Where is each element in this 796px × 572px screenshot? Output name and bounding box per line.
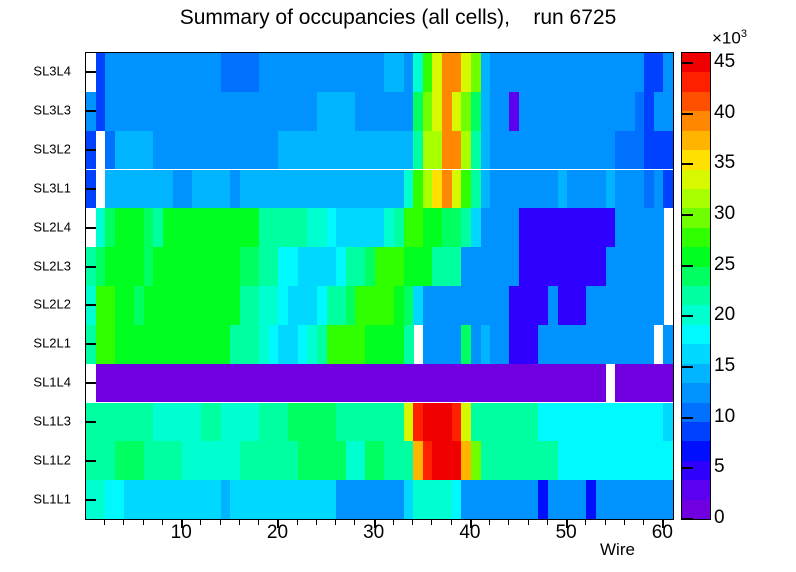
y-axis-label-sl1l1: SL1L1	[33, 491, 71, 506]
heatmap-cell	[404, 325, 414, 364]
heatmap-cell	[163, 208, 260, 247]
heatmap-cell	[548, 480, 587, 519]
heatmap-cell	[105, 92, 317, 131]
heatmap-cell	[96, 247, 106, 286]
heatmap-cell	[567, 170, 606, 209]
heatmap-cell	[490, 325, 510, 364]
heatmap-cell	[481, 131, 491, 170]
x-axis-tick	[451, 519, 452, 525]
y-axis-tick	[85, 227, 96, 229]
color-scale-tick	[681, 163, 693, 165]
heatmap-cell	[442, 208, 462, 247]
heatmap-cell	[221, 480, 231, 519]
color-scale-label-0: 0	[714, 507, 725, 529]
heatmap-cell	[105, 131, 115, 170]
heatmap-cell	[375, 247, 404, 286]
x-axis-tick	[143, 519, 144, 525]
heatmap-cell	[355, 286, 394, 325]
heatmap-cell	[307, 208, 327, 247]
heatmap-cell	[606, 170, 616, 209]
x-axis-tick	[258, 519, 259, 525]
heatmap-cell	[471, 208, 481, 247]
x-axis-label-40: 40	[459, 522, 480, 544]
heatmap-cell	[471, 170, 481, 209]
color-scale-label-40: 40	[714, 102, 735, 124]
heatmap-cell	[481, 92, 491, 131]
heatmap-cell	[278, 247, 298, 286]
x-axis-tick	[104, 519, 105, 525]
x-axis-tick	[605, 519, 606, 525]
heatmap-cell	[413, 480, 452, 519]
x-axis-tick	[431, 519, 432, 525]
heatmap-cell	[519, 247, 606, 286]
heatmap-plot-area[interactable]	[85, 52, 674, 520]
heatmap-row-sl2l4	[86, 208, 673, 247]
heatmap-cell	[644, 170, 654, 209]
color-scale-tick	[681, 315, 693, 317]
heatmap-cell	[240, 286, 260, 325]
x-axis-title: Wire	[600, 540, 635, 560]
x-axis-tick	[547, 519, 548, 525]
y-axis-label-sl3l3: SL3L3	[33, 103, 71, 118]
heatmap-cell	[413, 403, 423, 442]
color-scale-tick	[681, 518, 693, 520]
heatmap-cell	[481, 208, 520, 247]
heatmap-cell	[596, 480, 673, 519]
heatmap-cell	[423, 325, 462, 364]
heatmap-cell	[663, 170, 673, 209]
heatmap-cell	[134, 286, 144, 325]
heatmap-cell	[144, 208, 154, 247]
heatmap-cell	[558, 441, 674, 480]
x-axis-tick	[528, 519, 529, 525]
heatmap-cell	[644, 92, 654, 131]
heatmap-cell	[115, 286, 135, 325]
heatmap-cell	[509, 325, 538, 364]
heatmap-row-sl1l4	[86, 364, 673, 403]
heatmap-cell	[663, 403, 673, 442]
heatmap-cell	[461, 92, 471, 131]
color-scale-ticks: 051015202530354045	[681, 52, 791, 518]
y-axis-tick	[85, 499, 96, 501]
x-axis-tick	[200, 519, 201, 525]
heatmap-cell	[230, 325, 259, 364]
heatmap-row-sl1l3	[86, 403, 673, 442]
heatmap-row-sl3l2	[86, 131, 673, 170]
x-axis: 102030405060	[0, 519, 796, 549]
heatmap-cell	[471, 325, 481, 364]
heatmap-cell	[346, 247, 366, 286]
color-scale-tick	[681, 366, 693, 368]
heatmap-row-sl3l1	[86, 170, 673, 209]
heatmap-cell	[221, 403, 260, 442]
heatmap-cell	[461, 325, 471, 364]
heatmap-cell	[481, 53, 491, 92]
color-scale-label-20: 20	[714, 304, 735, 326]
heatmap-cell	[115, 208, 144, 247]
heatmap-cell	[105, 208, 115, 247]
y-axis-tick	[85, 304, 96, 306]
heatmap-cell	[423, 441, 433, 480]
heatmap-cell	[413, 441, 423, 480]
heatmap-cell	[423, 208, 443, 247]
heatmap-cell	[144, 286, 241, 325]
y-axis-label-sl2l2: SL2L2	[33, 297, 71, 312]
x-axis-label-60: 60	[652, 522, 673, 544]
heatmap-cell	[365, 247, 375, 286]
heatmap-cell	[96, 208, 106, 247]
heatmap-cell	[384, 53, 404, 92]
heatmap-cell	[423, 170, 433, 209]
heatmap-cell	[615, 364, 673, 403]
heatmap-cell	[278, 325, 298, 364]
exponent-power: 3	[741, 28, 747, 40]
heatmap-cell	[230, 480, 336, 519]
heatmap-cell	[471, 92, 481, 131]
x-axis-label-50: 50	[556, 522, 577, 544]
root-canvas: Summary of occupancies (all cells), run …	[0, 0, 796, 572]
heatmap-cell	[442, 92, 452, 131]
heatmap-cell	[654, 92, 674, 131]
color-scale-exponent: ×103	[712, 28, 747, 49]
x-axis-tick	[316, 519, 317, 525]
color-scale-label-30: 30	[714, 203, 735, 225]
heatmap-cell	[471, 441, 481, 480]
color-scale-label-10: 10	[714, 406, 735, 428]
x-axis-tick	[624, 519, 625, 525]
heatmap-row-sl3l3	[86, 92, 673, 131]
heatmap-cell	[509, 92, 519, 131]
heatmap-row-sl1l1	[86, 480, 673, 519]
heatmap-cell	[432, 247, 461, 286]
heatmap-cell	[615, 131, 644, 170]
x-axis-tick	[393, 519, 394, 525]
heatmap-cell	[240, 441, 298, 480]
heatmap-cell	[336, 480, 404, 519]
heatmap-cell	[461, 131, 471, 170]
heatmap-cell	[346, 441, 366, 480]
heatmap-cell	[153, 131, 278, 170]
heatmap-cell	[490, 170, 558, 209]
heatmap-row-sl3l4	[86, 53, 673, 92]
heatmap-row-sl2l2	[86, 286, 673, 325]
color-scale-tick	[681, 417, 693, 419]
heatmap-cell	[259, 286, 279, 325]
heatmap-cell	[471, 403, 539, 442]
heatmap-cell	[336, 403, 404, 442]
heatmap-cell	[644, 53, 664, 92]
heatmap-cell	[452, 403, 462, 442]
heatmap-cell	[615, 170, 644, 209]
y-axis-tick	[85, 343, 96, 345]
x-axis-tick	[123, 519, 124, 525]
heatmap-cell	[442, 131, 462, 170]
heatmap-cell	[442, 170, 452, 209]
heatmap-cell	[413, 131, 423, 170]
heatmap-row-sl2l1	[86, 325, 673, 364]
y-axis-label-sl1l3: SL1L3	[33, 413, 71, 428]
heatmap-cell	[404, 208, 424, 247]
x-axis-tick	[335, 519, 336, 525]
x-axis-tick	[162, 519, 163, 525]
heatmap-cell	[230, 170, 240, 209]
heatmap-row-sl2l3	[86, 247, 673, 286]
heatmap-cell	[278, 286, 288, 325]
heatmap-cell	[423, 403, 452, 442]
y-axis-tick	[85, 188, 96, 190]
heatmap-cell	[96, 364, 606, 403]
heatmap-cell	[298, 325, 308, 364]
heatmap-cell	[96, 286, 116, 325]
heatmap-cell	[192, 170, 231, 209]
heatmap-cell	[336, 247, 346, 286]
heatmap-cell	[394, 208, 404, 247]
y-axis-label-sl3l2: SL3L2	[33, 142, 71, 157]
heatmap-cell	[115, 325, 231, 364]
heatmap-cell	[423, 92, 433, 131]
color-scale-label-15: 15	[714, 355, 735, 377]
heatmap-cell	[307, 325, 317, 364]
heatmap-cell	[298, 247, 337, 286]
y-axis-tick	[85, 149, 96, 151]
heatmap-cell	[346, 286, 356, 325]
heatmap-cell	[115, 441, 144, 480]
heatmap-cell	[317, 325, 327, 364]
heatmap-cell	[105, 480, 125, 519]
color-scale-tick	[681, 62, 693, 64]
heatmap-cell	[365, 441, 385, 480]
x-axis-tick	[585, 519, 586, 525]
heatmap-cell	[548, 286, 558, 325]
exponent-base: ×10	[712, 29, 741, 48]
y-axis-tick	[85, 71, 96, 73]
heatmap-cell	[490, 131, 615, 170]
x-axis-tick	[643, 519, 644, 525]
x-axis-label-20: 20	[267, 522, 288, 544]
heatmap-cell	[413, 92, 423, 131]
x-axis-tick	[220, 519, 221, 525]
heatmap-cell	[288, 403, 337, 442]
heatmap-cell	[317, 286, 327, 325]
heatmap-cell	[423, 53, 433, 92]
color-scale-label-35: 35	[714, 152, 735, 174]
y-axis-tick	[85, 382, 96, 384]
heatmap-cell	[240, 170, 404, 209]
y-axis-label-sl3l1: SL3L1	[33, 180, 71, 195]
y-axis-label-sl2l4: SL2L4	[33, 219, 71, 234]
heatmap-cell	[461, 403, 471, 442]
heatmap-cell	[586, 480, 596, 519]
heatmap-cell	[413, 170, 423, 209]
x-axis-tick	[239, 519, 240, 525]
heatmap-cell	[404, 247, 433, 286]
color-scale-tick	[681, 113, 693, 115]
heatmap-cell	[240, 247, 260, 286]
heatmap-cell	[124, 480, 221, 519]
heatmap-cell	[144, 441, 183, 480]
heatmap-cell	[105, 53, 221, 92]
color-scale-tick	[681, 214, 693, 216]
heatmap-cell	[182, 441, 240, 480]
heatmap-cell	[365, 325, 404, 364]
heatmap-cell	[413, 286, 423, 325]
heatmap-cell	[404, 480, 414, 519]
heatmap-cell	[298, 441, 347, 480]
x-axis-tick	[508, 519, 509, 525]
heatmap-cell	[327, 286, 347, 325]
heatmap-cell	[558, 286, 587, 325]
heatmap-cell	[654, 170, 664, 209]
heatmap-cell	[327, 208, 337, 247]
x-axis-tick	[297, 519, 298, 525]
y-axis-label-sl2l1: SL2L1	[33, 336, 71, 351]
y-axis-label-sl1l4: SL1L4	[33, 375, 71, 390]
heatmap-cell	[278, 131, 413, 170]
heatmap-cell	[96, 325, 116, 364]
x-axis-label-10: 10	[171, 522, 192, 544]
heatmap-cell	[461, 480, 538, 519]
heatmap-cell	[461, 441, 471, 480]
heatmap-cell	[423, 131, 443, 170]
color-scale-label-25: 25	[714, 254, 735, 276]
heatmap-cell	[538, 480, 548, 519]
heatmap-cell	[635, 92, 645, 131]
heatmap-cell	[144, 247, 154, 286]
x-axis-tick	[354, 519, 355, 525]
heatmap-cell	[105, 170, 173, 209]
heatmap-cell	[336, 208, 385, 247]
heatmap-cell	[394, 286, 404, 325]
heatmap-cell	[481, 441, 558, 480]
y-axis: SL3L4SL3L3SL3L2SL3L1SL2L4SL2L3SL2L2SL2L1…	[0, 52, 85, 518]
heatmap-cell	[490, 92, 510, 131]
heatmap-cell	[461, 170, 471, 209]
heatmap-cell	[644, 131, 673, 170]
heatmap-cell	[490, 53, 644, 92]
heatmap-cell	[173, 170, 193, 209]
heatmap-cell	[153, 247, 240, 286]
heatmap-cell	[404, 170, 414, 209]
heatmap-cell	[663, 53, 673, 92]
heatmap-cell	[105, 247, 144, 286]
heatmap-cell	[481, 325, 491, 364]
heatmap-cell	[461, 53, 471, 92]
color-scale-label-45: 45	[714, 51, 735, 73]
heatmap-cell	[615, 208, 664, 247]
heatmap-cell	[461, 208, 471, 247]
heatmap-cell	[471, 131, 481, 170]
heatmap-cell	[481, 170, 491, 209]
heatmap-cell	[288, 286, 317, 325]
heatmap-cell	[153, 403, 202, 442]
heatmap-cell	[509, 286, 548, 325]
y-axis-tick	[85, 460, 96, 462]
page-title: Summary of occupancies (all cells), run …	[0, 6, 796, 30]
heatmap-cell	[423, 286, 510, 325]
heatmap-cell	[221, 53, 260, 92]
heatmap-cell	[201, 403, 221, 442]
x-axis-tick	[489, 519, 490, 525]
heatmap-cell	[538, 325, 654, 364]
y-axis-label-sl2l3: SL2L3	[33, 258, 71, 273]
y-axis-label-sl3l4: SL3L4	[33, 64, 71, 79]
heatmap-cell	[432, 170, 442, 209]
heatmap-cell	[96, 92, 106, 131]
heatmap-cell	[413, 53, 423, 92]
heatmap-cell	[404, 403, 414, 442]
heatmap-cell	[452, 480, 462, 519]
heatmap-cell	[384, 441, 413, 480]
heatmap-cell	[327, 325, 366, 364]
x-axis-tick	[412, 519, 413, 525]
heatmap-cell	[259, 403, 288, 442]
heatmap-cell	[404, 53, 414, 92]
heatmap-cell	[471, 53, 481, 92]
color-scale-tick	[681, 265, 693, 267]
heatmap-row-sl1l2	[86, 441, 673, 480]
heatmap-cell	[259, 247, 279, 286]
heatmap-cell	[404, 286, 414, 325]
heatmap-cell	[86, 403, 154, 442]
heatmap-cell	[452, 92, 462, 131]
heatmap-cell	[519, 208, 616, 247]
heatmap-cell	[519, 92, 635, 131]
heatmap-cell	[269, 325, 279, 364]
y-axis-tick	[85, 266, 96, 268]
heatmap-cell	[586, 286, 663, 325]
heatmap-cell	[153, 208, 163, 247]
color-scale-tick	[681, 467, 693, 469]
heatmap-cell	[259, 325, 269, 364]
heatmap-cell	[115, 131, 154, 170]
heatmap-cell	[259, 53, 384, 92]
color-scale-label-5: 5	[714, 456, 725, 478]
heatmap-cell	[96, 53, 106, 92]
heatmap-cell	[384, 208, 394, 247]
heatmap-cell	[317, 92, 356, 131]
heatmap-cell	[432, 441, 461, 480]
x-axis-label-30: 30	[363, 522, 384, 544]
heatmap-cell	[538, 403, 663, 442]
heatmap-cell	[259, 208, 308, 247]
heatmap-cell	[452, 170, 462, 209]
heatmap-cell	[355, 92, 413, 131]
heatmap-cell	[663, 325, 673, 364]
heatmap-cell	[432, 53, 442, 92]
heatmap-cell	[558, 170, 568, 209]
y-axis-label-sl1l2: SL1L2	[33, 452, 71, 467]
heatmap-cell	[606, 247, 664, 286]
heatmap-cell	[432, 92, 442, 131]
y-axis-tick	[85, 110, 96, 112]
y-axis-tick	[85, 421, 96, 423]
heatmap-cell	[461, 247, 519, 286]
heatmap-grid[interactable]	[86, 53, 673, 519]
heatmap-cell	[442, 53, 462, 92]
